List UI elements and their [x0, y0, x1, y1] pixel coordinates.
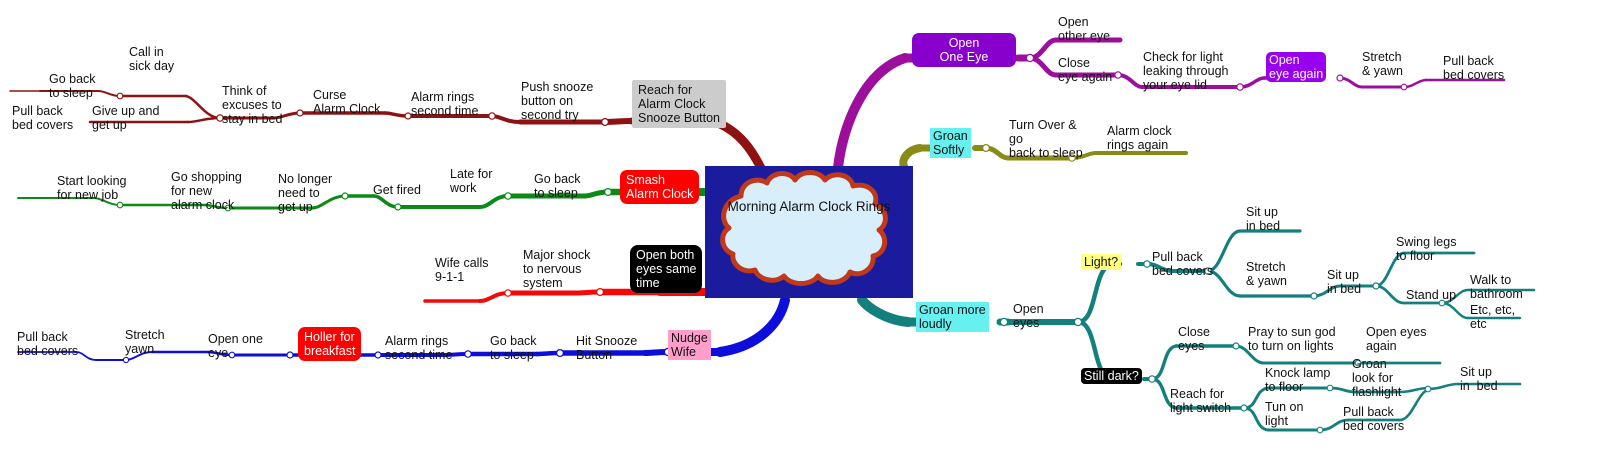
node-sit-up-in-bed-2[interactable]: Sit up in bed [1327, 268, 1361, 296]
node-still-dark-question[interactable]: Still dark? [1081, 368, 1142, 384]
node-start-looking-new-job[interactable]: Start looking for new job [57, 174, 126, 202]
node-open-one-eye-blue[interactable]: Open one eye [208, 332, 263, 360]
node-pull-back-bed-covers-teal2[interactable]: Pull back bed covers [1343, 405, 1404, 433]
node-sit-up-in-bed-3[interactable]: Sit up in bed [1460, 365, 1498, 393]
node-close-eyes[interactable]: Close eyes [1178, 325, 1210, 353]
node-turn-over-go-back-sleep[interactable]: Turn Over & go back to sleep [1009, 118, 1083, 160]
node-go-back-to-sleep-blue[interactable]: Go back to sleep [490, 334, 537, 362]
node-get-fired[interactable]: Get fired [373, 183, 421, 197]
node-open-eyes-again[interactable]: Open eyes again [1366, 325, 1426, 353]
node-groan-more-loudly[interactable]: Groan more loudly [916, 302, 989, 332]
node-open-eye-again[interactable]: Open eye again [1266, 52, 1326, 82]
node-give-up-and-get-up[interactable]: Give up and get up [92, 104, 159, 132]
node-wife-calls-911[interactable]: Wife calls 9-1-1 [435, 256, 488, 284]
node-go-shopping-new-clock[interactable]: Go shopping for new alarm clock [171, 170, 242, 212]
node-stretch-yawn-purple[interactable]: Stretch & yawn [1362, 50, 1403, 78]
node-stretch-yawn-teal[interactable]: Stretch & yawn [1246, 260, 1287, 288]
node-call-in-sick-day[interactable]: Call in sick day [129, 45, 174, 73]
node-check-for-light[interactable]: Check for light leaking through your eye… [1143, 50, 1228, 92]
node-light-question[interactable]: Light? [1081, 254, 1121, 270]
node-open-eyes[interactable]: Open eyes [1013, 302, 1044, 330]
node-groan-softly[interactable]: Groan Softly [930, 128, 971, 158]
node-go-back-to-sleep-dr[interactable]: Go back to sleep [49, 72, 96, 100]
node-reach-for-light-switch[interactable]: Reach for light switch [1170, 387, 1231, 415]
node-reach-snooze[interactable]: Reach for Alarm Clock Snooze Button [632, 80, 726, 128]
central-topic-label: Morning Alarm Clock Rings [705, 198, 913, 216]
node-open-other-eye[interactable]: Open other eye [1058, 15, 1110, 43]
node-knock-lamp-to-floor[interactable]: Knock lamp to floor [1265, 366, 1330, 394]
node-no-longer-need-get-up[interactable]: No longer need to get up [278, 172, 332, 214]
node-curse-alarm-clock[interactable]: Curse Alarm Clock [313, 88, 380, 116]
node-go-back-to-sleep-green[interactable]: Go back to sleep [534, 172, 581, 200]
node-holler-for-breakfast[interactable]: Holler for breakfast [298, 327, 361, 361]
node-late-for-work[interactable]: Late for work [450, 167, 492, 195]
node-swing-legs-to-floor[interactable]: Swing legs to floor [1396, 235, 1456, 263]
node-major-shock[interactable]: Major shock to nervous system [523, 248, 590, 290]
node-think-of-excuses[interactable]: Think of excuses to stay in bed [222, 84, 282, 126]
cloud-shape [705, 166, 913, 298]
node-groan-look-for-flashlight[interactable]: Groan look for flashlight [1352, 357, 1401, 399]
node-pray-to-sun-god[interactable]: Pray to sun god to turn on lights [1248, 325, 1336, 353]
node-alarm-rings-second-dr[interactable]: Alarm rings second time [411, 90, 478, 118]
node-etc-etc-etc[interactable]: Etc, etc, etc [1470, 303, 1515, 331]
node-turn-on-light[interactable]: Tun on light [1265, 400, 1303, 428]
node-pull-back-bed-covers-dr[interactable]: Pull back bed covers [12, 104, 73, 132]
mindmap-canvas: Morning Alarm Clock Rings Reach for Alar… [0, 0, 1607, 454]
node-stretch-yawn-blue[interactable]: Stretch yawn [125, 328, 165, 356]
node-pull-back-bed-covers-blue[interactable]: Pull back bed covers [17, 330, 78, 358]
node-push-snooze[interactable]: Push snooze button on second try [521, 80, 593, 122]
node-pull-back-bed-covers-purple[interactable]: Pull back bed covers [1443, 54, 1504, 82]
node-alarm-clock-rings-again[interactable]: Alarm clock rings again [1107, 124, 1172, 152]
node-smash-alarm-clock[interactable]: Smash Alarm Clock [620, 170, 699, 204]
central-topic[interactable]: Morning Alarm Clock Rings [705, 166, 913, 298]
node-sit-up-in-bed-1[interactable]: Sit up in bed [1246, 205, 1280, 233]
node-nudge-wife[interactable]: Nudge Wife [668, 330, 711, 360]
node-close-eye-again[interactable]: Close eye again [1058, 56, 1112, 84]
node-open-both-eyes[interactable]: Open both eyes same time [630, 245, 702, 293]
node-stand-up[interactable]: Stand up [1406, 288, 1456, 302]
node-pull-back-bed-covers-teal[interactable]: Pull back bed covers [1152, 250, 1213, 278]
node-walk-to-bathroom[interactable]: Walk to bathroom [1470, 273, 1523, 301]
node-alarm-rings-second-blue[interactable]: Alarm rings second time [385, 334, 452, 362]
node-hit-snooze-button[interactable]: Hit Snooze Button [576, 334, 637, 362]
node-open-one-eye[interactable]: Open One Eye [912, 33, 1016, 67]
